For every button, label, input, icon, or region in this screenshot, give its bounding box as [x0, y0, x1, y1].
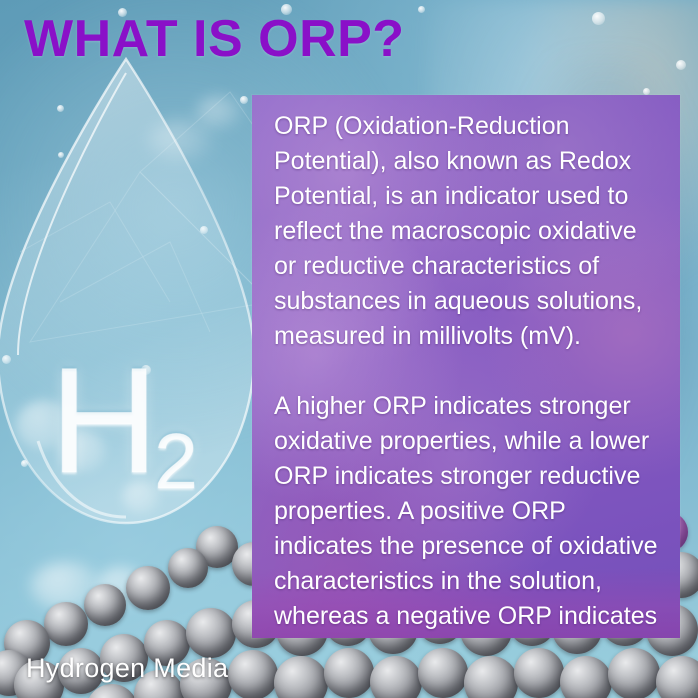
- sphere: [608, 648, 660, 698]
- sphere: [126, 566, 170, 610]
- page-title: WHAT IS ORP?: [24, 12, 405, 67]
- info-panel: ORP (Oxidation-Reduction Potential), als…: [252, 95, 680, 638]
- sphere: [228, 650, 278, 698]
- infographic-poster: H2: [0, 0, 698, 698]
- sphere: [44, 602, 88, 646]
- sphere: [186, 608, 236, 658]
- sphere: [418, 648, 468, 698]
- water-droplet-graphic: H2: [0, 55, 260, 575]
- watermark-label: Hydrogen Media: [26, 653, 228, 684]
- sphere: [274, 656, 328, 698]
- sphere: [324, 648, 374, 698]
- sphere: [464, 656, 518, 698]
- sphere: [370, 656, 422, 698]
- sphere: [560, 656, 612, 698]
- sphere: [168, 548, 208, 588]
- sphere: [656, 656, 698, 698]
- h2-subscript: 2: [154, 417, 197, 505]
- info-panel-body: ORP (Oxidation-Reduction Potential), als…: [252, 95, 680, 638]
- h2-element-symbol: H: [50, 336, 158, 504]
- sphere: [514, 648, 564, 698]
- paragraph-definition: ORP (Oxidation-Reduction Potential), als…: [274, 109, 662, 354]
- sphere: [84, 584, 126, 626]
- paragraph-interpretation: A higher ORP indicates stronger oxidativ…: [274, 389, 662, 638]
